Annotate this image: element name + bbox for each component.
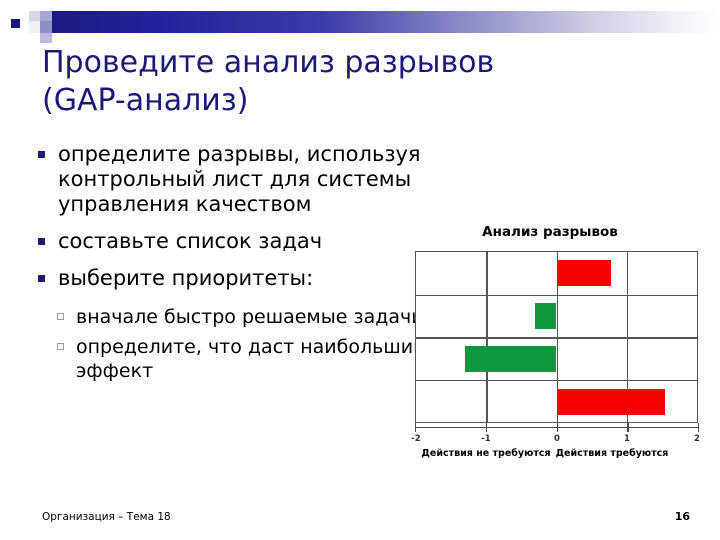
chart-annotation-no-action: Действия не требуются	[421, 448, 550, 459]
chart-gridline-horizontal	[416, 337, 697, 339]
gap-analysis-chart: Анализ разрывов -2 -1 0 1 2 Действия не …	[400, 224, 710, 469]
bullet-square-icon	[38, 238, 45, 245]
chart-bar	[465, 346, 556, 372]
chart-annotation-action-required: Действия требуются	[556, 448, 669, 459]
chart-axis-tick	[698, 423, 699, 432]
chart-axis-tick	[557, 423, 558, 432]
deco-square-6	[29, 33, 40, 43]
deco-square-2	[29, 11, 40, 21]
list-item-label: выберите приоритеты:	[58, 266, 313, 290]
bullet-hollow-square-icon	[57, 313, 64, 320]
slide-header-decoration	[0, 0, 720, 46]
chart-title: Анализ разрывов	[400, 224, 700, 240]
chart-tick-label: -1	[481, 434, 490, 444]
chart-axis-tick	[415, 423, 416, 432]
chart-bar	[535, 303, 556, 329]
deco-square-7	[40, 33, 52, 43]
bullet-square-icon	[38, 151, 45, 158]
chart-bar	[557, 389, 666, 415]
chart-plot-area	[415, 251, 698, 423]
bullet-square-icon	[38, 275, 45, 282]
deco-square-8	[52, 33, 64, 43]
chart-tick-label: 1	[624, 434, 630, 444]
list-item-label: определите разрывы, используя контрольны…	[58, 142, 421, 216]
page-title-line-2: (GAP-анализ)	[42, 82, 662, 120]
chart-gridline-horizontal	[416, 295, 697, 297]
chart-tick-label: 0	[554, 434, 560, 444]
list-item-label: составьте список задач	[58, 229, 322, 253]
deco-square-1	[11, 19, 20, 28]
chart-gridline-horizontal	[416, 380, 697, 382]
deco-square-4	[29, 21, 40, 33]
chart-axis-tick	[486, 423, 487, 432]
page-title-line-1: Проведите анализ разрывов	[42, 44, 662, 82]
list-item: определите разрывы, используя контрольны…	[36, 142, 466, 217]
header-gradient-bar	[30, 11, 720, 33]
sub-list-item-label: вначале быстро решаемые задачи	[76, 306, 424, 328]
sub-list-item-label: определите, что даст наибольший эффект	[76, 336, 425, 382]
footer-page-number: 16	[675, 510, 690, 523]
deco-square-3	[40, 11, 52, 21]
chart-tick-label: -2	[411, 434, 420, 444]
bullet-hollow-square-icon	[57, 343, 64, 350]
chart-tick-label: 2	[694, 434, 700, 444]
chart-bar	[557, 260, 612, 286]
deco-square-5	[40, 21, 52, 33]
chart-x-axis	[415, 423, 698, 433]
chart-axis-tick	[627, 423, 628, 432]
page-title: Проведите анализ разрывов (GAP-анализ)	[42, 44, 662, 120]
footer-organization: Организация – Тема 18	[42, 511, 171, 523]
